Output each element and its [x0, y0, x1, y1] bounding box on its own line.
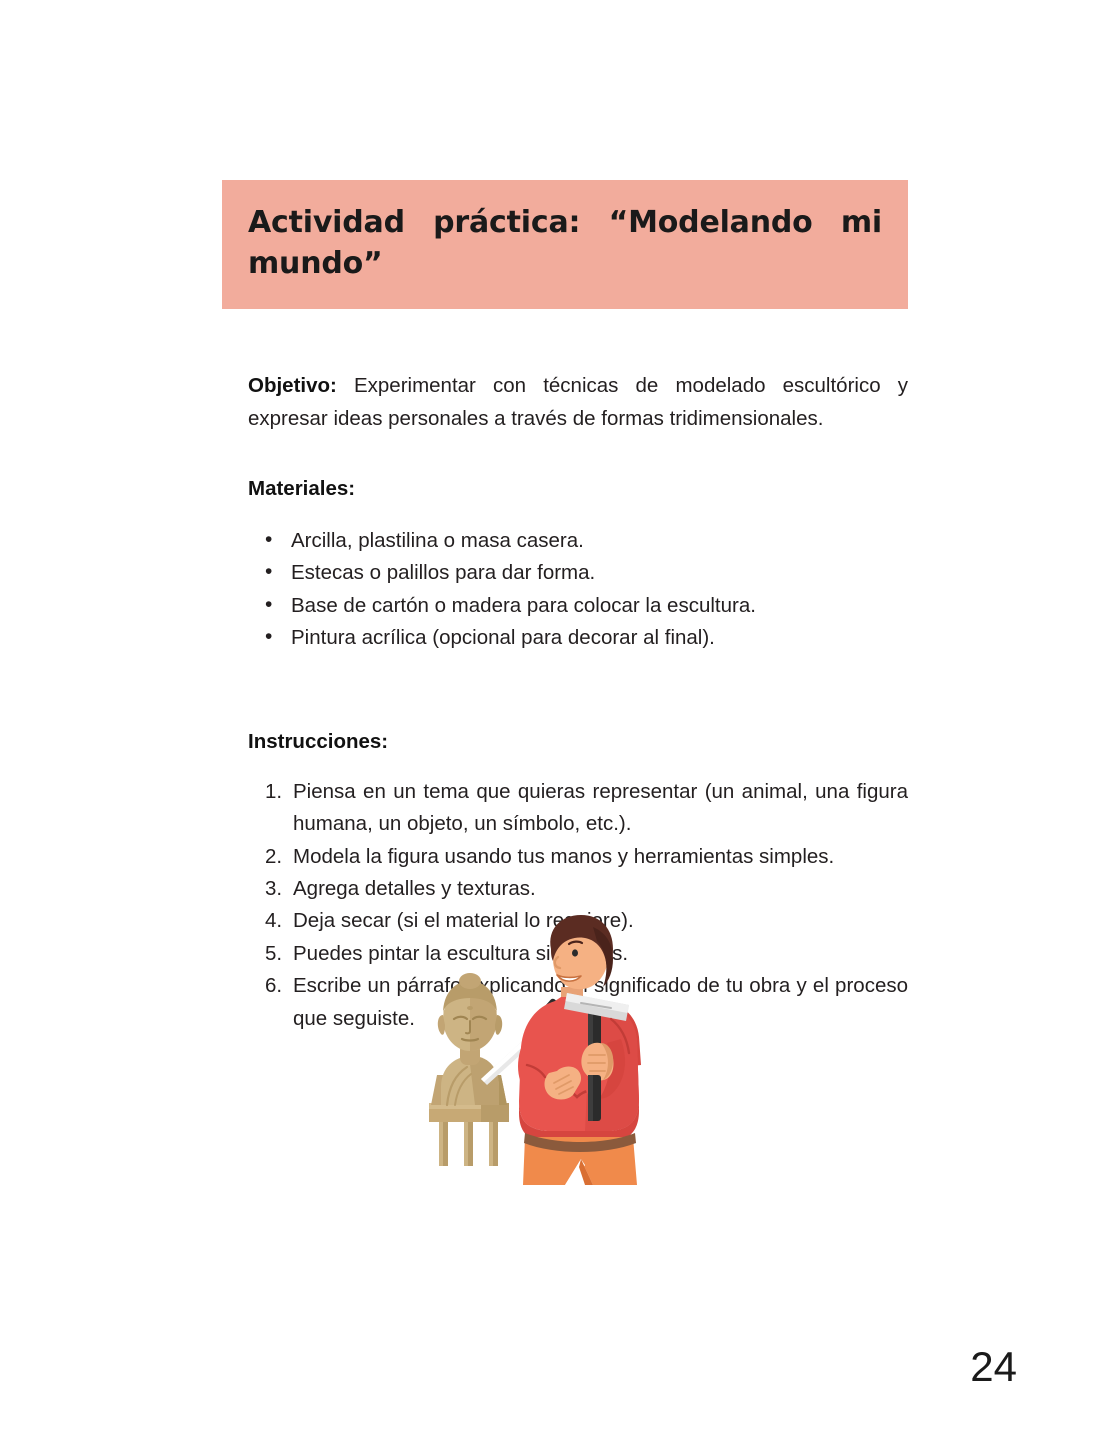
page-title: Actividad práctica: “Modelando mimundo” — [248, 202, 882, 285]
objetivo-text: Experimentar con técnicas de modelado es… — [248, 374, 908, 430]
list-item: Piensa en un tema que quieras representa… — [293, 776, 908, 841]
activity-title-banner: Actividad práctica: “Modelando mimundo” — [222, 180, 908, 309]
materiales-list: Arcilla, plastilina o masa casera. Estec… — [222, 525, 908, 654]
objetivo-label: Objetivo: — [248, 374, 337, 397]
page-content: Actividad práctica: “Modelando mimundo” … — [222, 0, 908, 1035]
banner-title-line-2: mundo” — [248, 243, 882, 284]
list-item: Base de cartón o madera para colocar la … — [291, 590, 908, 622]
objetivo-section: Objetivo: Experimentar con técnicas de m… — [222, 369, 908, 435]
sculptor-illustration — [415, 915, 715, 1185]
list-item: Modela la figura usando tus manos y herr… — [293, 841, 908, 873]
objetivo-paragraph: Objetivo: Experimentar con técnicas de m… — [222, 369, 908, 435]
document-page: Actividad práctica: “Modelando mimundo” … — [0, 0, 1113, 1440]
list-item: Agrega detalles y texturas. — [293, 873, 908, 905]
list-item: Estecas o palillos para dar forma. — [291, 557, 908, 589]
list-item: Arcilla, plastilina o masa casera. — [291, 525, 908, 557]
list-item: Pintura acrílica (opcional para decorar … — [291, 622, 908, 654]
materiales-heading: Materiales: — [222, 477, 908, 501]
sculptor-person-group — [518, 915, 641, 1185]
instrucciones-heading: Instrucciones: — [222, 730, 908, 754]
sculptor-carving-bust-icon — [415, 915, 715, 1185]
banner-title-line-1: Actividad práctica: “Modelando mi — [248, 205, 882, 240]
page-number: 24 — [970, 1346, 1017, 1388]
